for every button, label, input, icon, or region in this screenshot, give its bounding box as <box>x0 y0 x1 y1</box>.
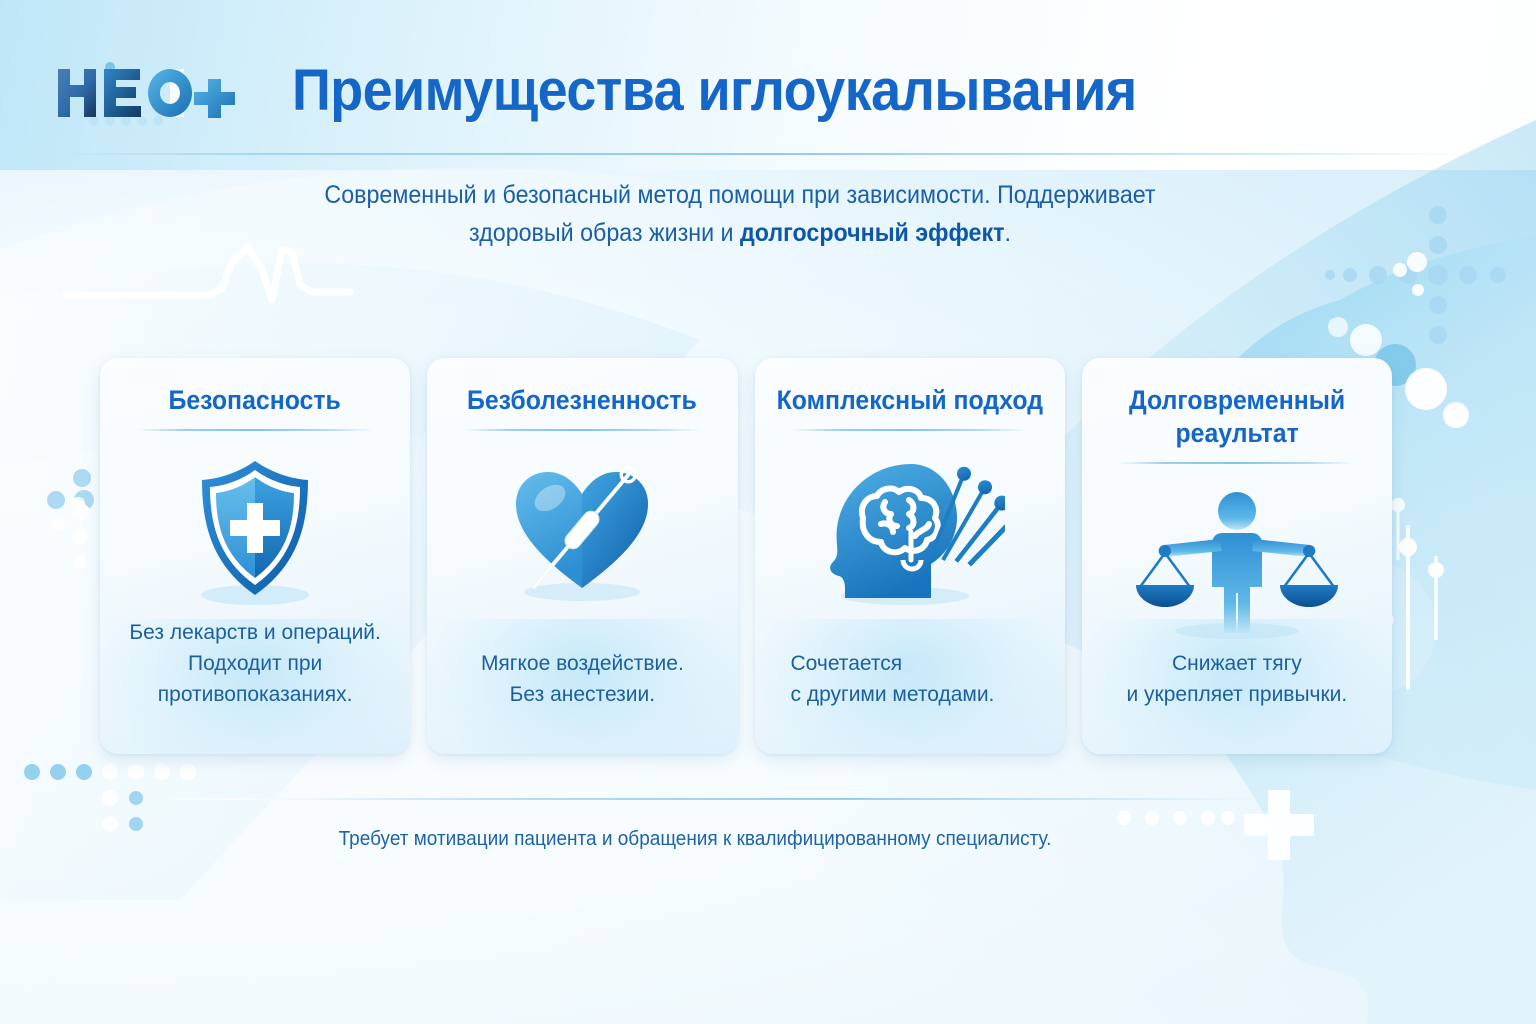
card-text: Сочетается с другими методами. <box>769 648 995 710</box>
card-text-line: Подходит при <box>129 648 381 679</box>
card-text: Без лекарств и операций. Подходит при пр… <box>129 617 381 710</box>
benefit-cards: Безопасность <box>100 358 1392 754</box>
balance-scales-figure-icon <box>1096 480 1378 648</box>
footer-divider <box>150 798 1268 800</box>
card-text-line: Сочетается <box>791 648 995 679</box>
benefit-card-long-term-result[interactable]: Долговременный реаультат <box>1082 358 1392 754</box>
card-text-line: Снижает тягу <box>1126 648 1347 679</box>
brand-logo: НЕО+ <box>52 55 252 127</box>
card-title: Безопасность <box>169 384 341 417</box>
card-text: Снижает тягу и укрепляет привычки. <box>1126 648 1347 710</box>
card-text-line: и укрепляет привычки. <box>1126 679 1347 710</box>
subtitle-line-2-prefix: здоровый образ жизни и <box>469 219 740 247</box>
card-text-line: противопоказаниях. <box>129 679 381 710</box>
card-text: Мягкое воздействие. Без анестезии. <box>481 648 684 710</box>
shield-cross-icon <box>114 447 396 615</box>
card-title-divider <box>791 429 1028 431</box>
infographic-canvas: НЕО+ Преимущества иглоукалывания Совреме… <box>0 0 1536 1024</box>
page-title: Преимущества иглоукалывания <box>292 58 1137 124</box>
card-title: Комплексный подход <box>776 384 1042 417</box>
subtitle-line-1: Современный и безопасный метод помощи пр… <box>324 181 1155 209</box>
header-divider <box>60 153 1470 155</box>
card-title-divider <box>464 429 701 431</box>
subtitle-line-2-suffix: . <box>1004 219 1010 247</box>
benefit-card-complex-approach[interactable]: Комплексный подход <box>755 358 1065 754</box>
benefit-card-painless[interactable]: Безболезненность <box>427 358 737 754</box>
heart-needle-icon <box>441 447 723 615</box>
card-title: Долговременный реаультат <box>1107 384 1367 450</box>
card-text-line: Без анестезии. <box>481 679 684 710</box>
footer-note: Требует мотивации пациента и обращения к… <box>35 824 1356 854</box>
card-title: Безболезненность <box>467 384 697 417</box>
card-title-divider <box>1118 462 1355 464</box>
subtitle: Современный и безопасный метод помощи пр… <box>301 176 1179 252</box>
subtitle-highlight: долгосрочный эффект <box>740 219 1005 247</box>
card-title-divider <box>137 429 374 431</box>
card-text-line: Без лекарств и операций. <box>129 617 381 648</box>
card-text-line: с другими методами. <box>791 679 995 710</box>
card-text-line: Мягкое воздействие. <box>481 648 684 679</box>
head-brain-needles-icon <box>769 447 1051 615</box>
benefit-card-safety[interactable]: Безопасность <box>100 358 410 754</box>
page-header: НЕО+ Преимущества иглоукалывания <box>0 0 1536 160</box>
